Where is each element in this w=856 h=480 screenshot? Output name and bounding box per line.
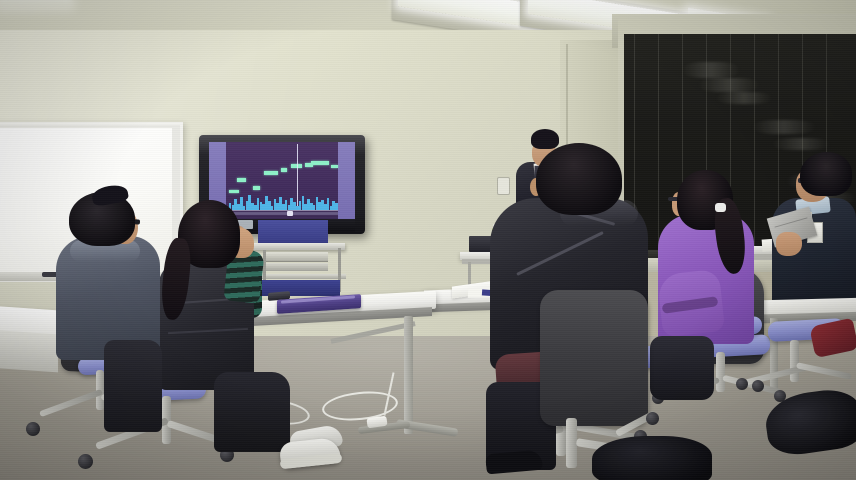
chair-caster — [78, 454, 93, 469]
person-left-legs — [104, 340, 162, 432]
chair-column-empty-2 — [790, 340, 799, 382]
playhead-cursor — [297, 144, 298, 206]
seminar-table-bottom-left-edge — [0, 330, 58, 373]
person-purple-legs — [650, 336, 714, 400]
pillarbox-right — [338, 142, 355, 221]
timeline-baseline — [226, 210, 338, 211]
av-cart-top-shelf — [249, 243, 345, 250]
person-center-hair — [536, 143, 622, 215]
person-standing-hair — [531, 129, 559, 149]
person-right-hand — [776, 232, 802, 256]
hair-tie — [715, 203, 726, 212]
caption-block — [253, 186, 260, 190]
caption-block — [264, 171, 278, 175]
caption-block — [311, 161, 329, 165]
av-cart-lower-shelf — [256, 274, 346, 279]
av-device-player — [264, 252, 328, 262]
caption-block — [281, 168, 287, 172]
chair-caster — [736, 378, 748, 390]
meeting-room-photo: Seminar room video playback session — [0, 0, 856, 480]
scrub-handle — [287, 211, 293, 216]
chair-back-front-center[interactable] — [540, 290, 648, 426]
waveform-bar — [335, 203, 338, 210]
seminar-table-front-leg — [404, 316, 413, 434]
scrub-bar — [226, 212, 338, 215]
audio-waveform — [226, 192, 338, 210]
dark-foreground-object-2 — [592, 436, 712, 480]
chair-caster — [646, 412, 659, 425]
caption-block — [331, 165, 338, 168]
person-striped-legs — [214, 372, 290, 452]
fluorescent-light-glow — [0, 0, 70, 6]
caption-block — [237, 178, 246, 182]
chair-caster — [752, 380, 764, 392]
av-device-recorder — [266, 263, 328, 271]
chair-column-right — [716, 352, 725, 392]
chair-caster — [26, 422, 40, 436]
wall-outlet-plate — [497, 177, 510, 195]
person-right-hair — [800, 152, 852, 196]
